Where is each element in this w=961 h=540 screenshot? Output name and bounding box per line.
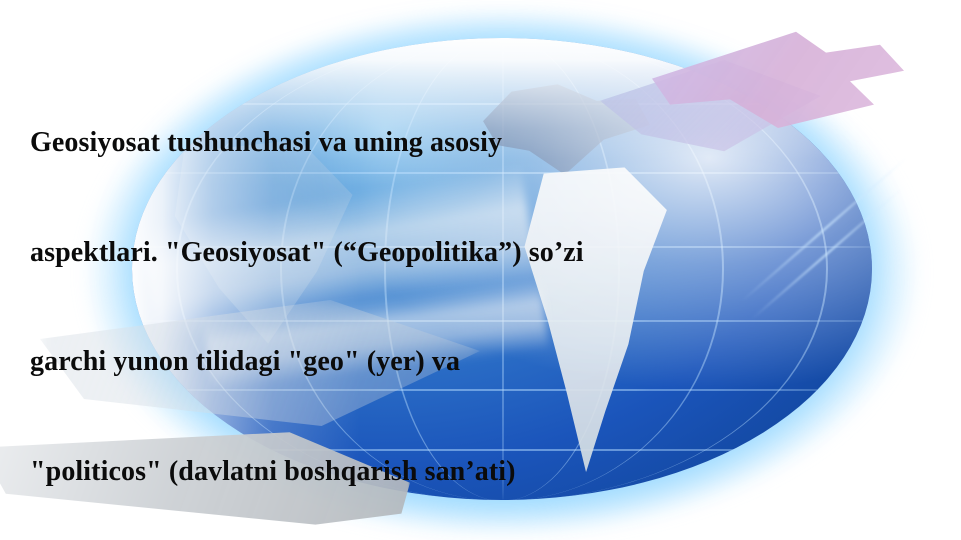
slide-canvas: Geosiyosat tushunchasi va uning asosiy a… bbox=[0, 0, 961, 540]
text-line: aspektlari. "Geosiyosat" (“Geopolitika”)… bbox=[30, 235, 730, 272]
text-line: Geosiyosat tushunchasi va uning asosiy bbox=[30, 125, 730, 162]
text-line: garchi yunon tilidagi "geo" (yer) va bbox=[30, 344, 730, 381]
light-streak bbox=[741, 156, 908, 302]
light-streak bbox=[751, 187, 903, 320]
text-line: "politicos" (davlatni boshqarish san’ati… bbox=[30, 454, 730, 491]
slide-body-text: Geosiyosat tushunchasi va uning asosiy a… bbox=[30, 52, 730, 540]
